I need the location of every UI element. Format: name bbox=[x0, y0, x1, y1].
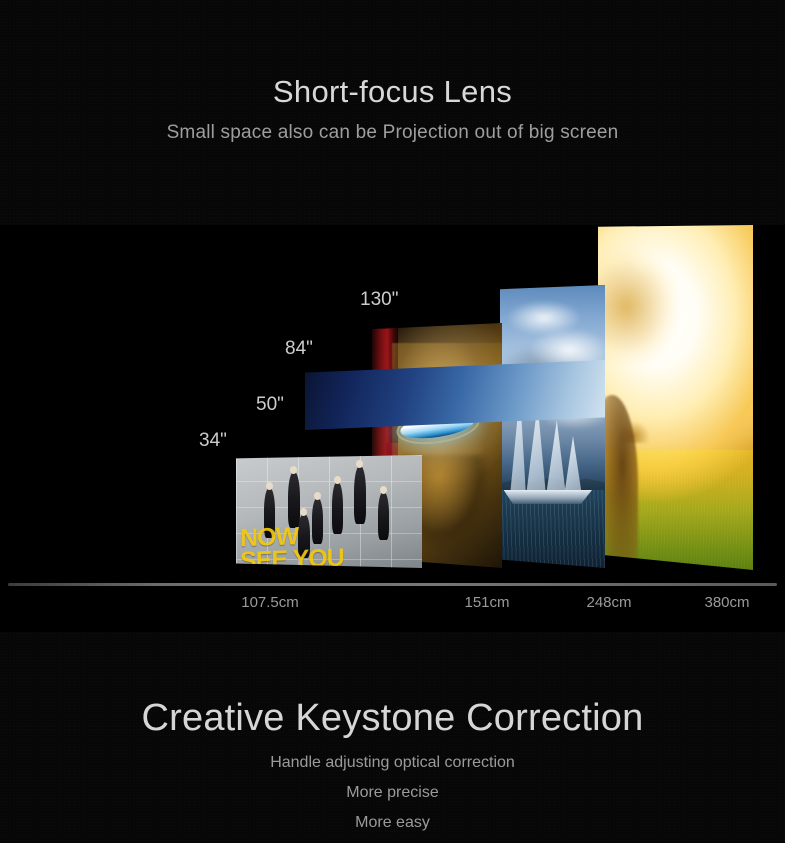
tree-canopy bbox=[598, 239, 692, 389]
poster-title-text: NOW SEE YOU bbox=[240, 521, 422, 568]
projection-diagram: NOW SEE YOU 130"84"50"34" bbox=[0, 225, 785, 570]
size-label-84in: 84" bbox=[285, 338, 313, 360]
distance-label-248cm: 248cm bbox=[586, 594, 631, 611]
keystone-title: Creative Keystone Correction bbox=[0, 697, 785, 740]
distance-label-151cm: 151cm bbox=[464, 594, 509, 611]
distance-label-380cm: 380cm bbox=[704, 594, 749, 611]
projection-screen-84in bbox=[500, 285, 605, 568]
ruler-line bbox=[8, 583, 777, 586]
distance-ruler: 107.5cm151cm248cm380cm bbox=[0, 570, 785, 632]
size-label-130in: 130" bbox=[360, 289, 398, 311]
keystone-line-3: More easy bbox=[0, 814, 785, 832]
projection-screen-34in: NOW SEE YOU bbox=[236, 455, 422, 568]
keystone-section: Creative Keystone Correction Handle adju… bbox=[0, 632, 785, 843]
size-label-50in: 50" bbox=[256, 394, 284, 416]
distance-label-107.5cm: 107.5cm bbox=[241, 594, 299, 611]
keystone-line-2: More precise bbox=[0, 784, 785, 802]
page-subtitle: Small space also can be Projection out o… bbox=[0, 122, 785, 144]
hero-section: Short-focus Lens Small space also can be… bbox=[0, 0, 785, 225]
keystone-line-1: Handle adjusting optical correction bbox=[0, 754, 785, 772]
ship-hull bbox=[500, 490, 592, 504]
poster-title-line-2: SEE YOU bbox=[240, 544, 422, 568]
size-label-34in: 34" bbox=[199, 430, 227, 452]
noise-texture bbox=[0, 0, 785, 225]
page-title: Short-focus Lens bbox=[0, 74, 785, 110]
projection-screen-130in bbox=[598, 225, 753, 570]
